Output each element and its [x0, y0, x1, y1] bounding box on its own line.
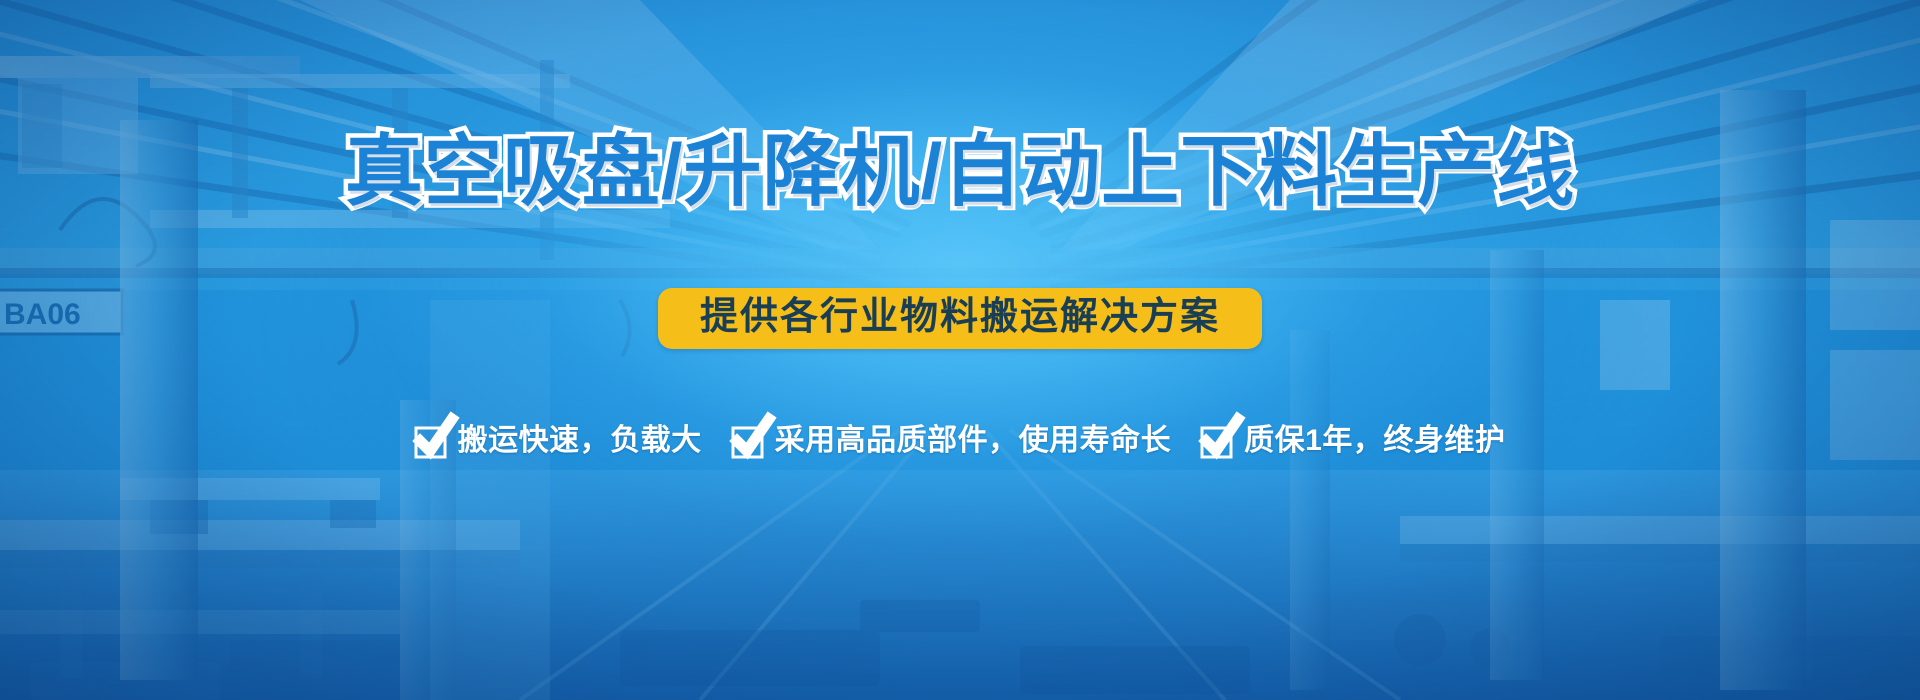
checkbox-check-icon — [732, 424, 766, 458]
checkbox-check-icon — [415, 424, 449, 458]
feature-item-label: 质保1年，终身维护 — [1244, 426, 1505, 456]
banner-headline: 真空吸盘/升降机/自动上下料生产线 — [0, 132, 1920, 210]
banner-subtitle-pill: 提供各行业物料搬运解决方案 — [658, 288, 1262, 349]
banner-content: 真空吸盘/升降机/自动上下料生产线 提供各行业物料搬运解决方案 搬运快速，负载大 — [0, 0, 1920, 700]
feature-item: 质保1年，终身维护 — [1201, 424, 1505, 458]
banner-subtitle-row: 提供各行业物料搬运解决方案 — [0, 288, 1920, 349]
checkbox-check-icon — [1201, 424, 1235, 458]
feature-item-label: 搬运快速，负载大 — [458, 426, 702, 456]
feature-item-label: 采用高品质部件，使用寿命长 — [775, 426, 1172, 456]
feature-item: 搬运快速，负载大 — [415, 424, 702, 458]
promo-banner: BA06 — [0, 0, 1920, 700]
feature-list: 搬运快速，负载大 采用高品质部件，使用寿命长 — [0, 424, 1920, 458]
feature-item: 采用高品质部件，使用寿命长 — [732, 424, 1172, 458]
